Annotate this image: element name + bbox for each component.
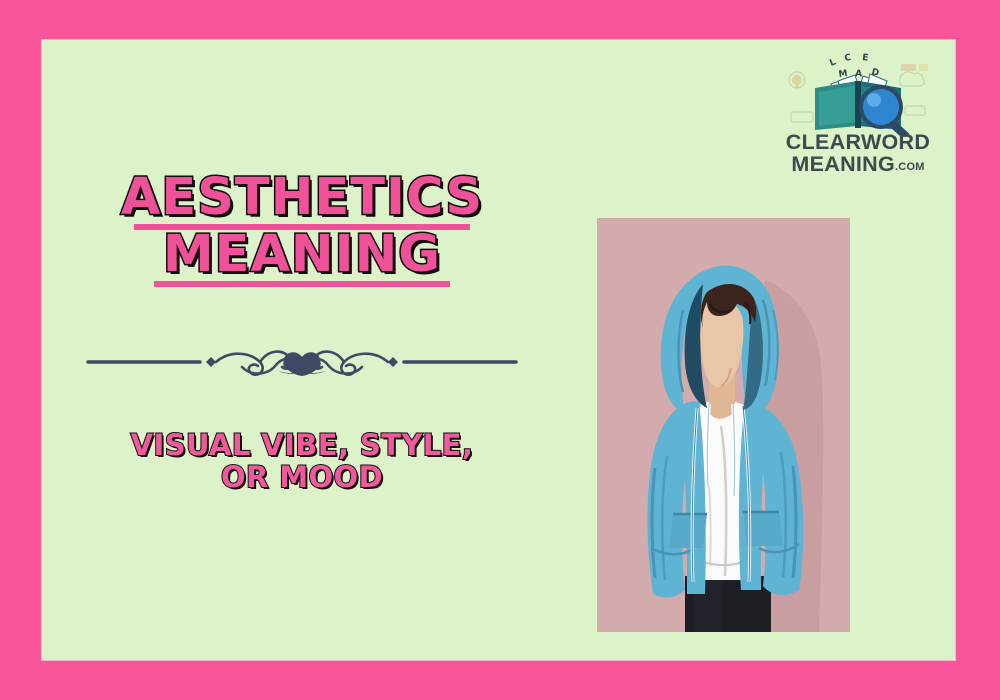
content-card: L C E M A D <box>42 40 955 660</box>
title-line-1: AESTHETICS <box>52 173 552 223</box>
page-title: AESTHETICS MEANING <box>52 165 552 287</box>
svg-text:E: E <box>862 53 869 64</box>
svg-text:L: L <box>828 57 837 69</box>
poster-canvas: L C E M A D <box>0 0 1000 700</box>
logo-domain-suffix: .COM <box>895 161 925 173</box>
logo-line-1: CLEARWORD <box>777 132 939 154</box>
logo-line-2: MEANING.COM <box>777 154 939 176</box>
ornamental-flourish-divider <box>82 341 522 383</box>
subtitle: VISUAL VIBE, STYLE, OR MOOD <box>52 429 552 494</box>
title-line-2: MEANING <box>52 230 552 280</box>
logo-wordmark: CLEARWORD MEANING.COM <box>777 132 939 175</box>
svg-text:C: C <box>844 53 853 64</box>
hooded-person-illustration <box>597 218 850 632</box>
clearword-meaning-logo[interactable]: L C E M A D <box>777 50 939 178</box>
text-column: AESTHETICS MEANING <box>52 165 552 494</box>
subtitle-line-2: OR MOOD <box>52 461 552 493</box>
subtitle-line-1: VISUAL VIBE, STYLE, <box>52 429 552 461</box>
open-book-with-magnifier-icon: L C E M A D <box>783 50 933 136</box>
